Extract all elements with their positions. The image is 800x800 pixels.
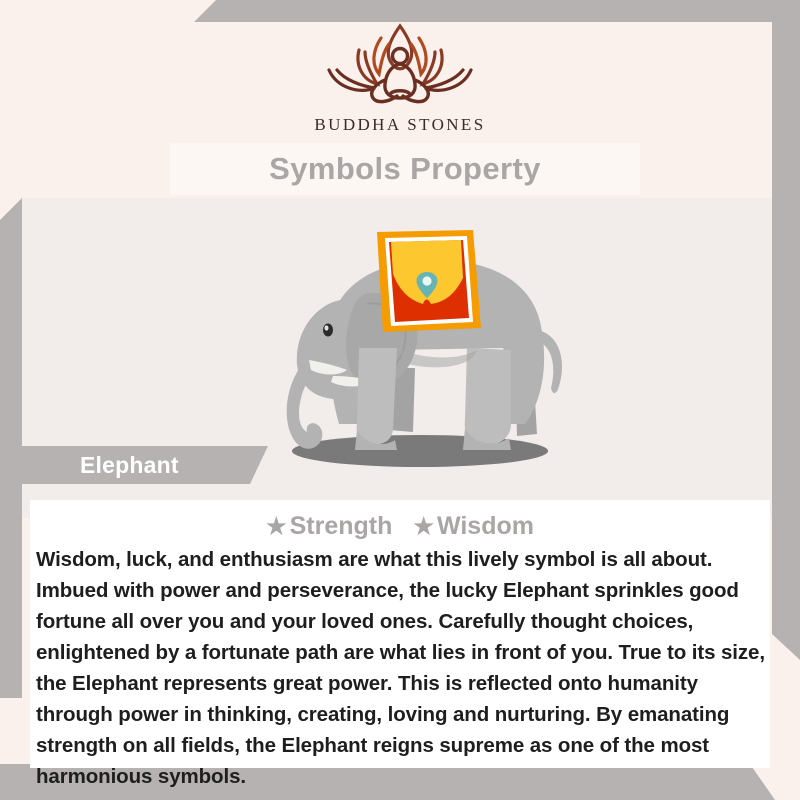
symbol-name-banner: Elephant bbox=[18, 446, 268, 484]
walking-elephant-illustration bbox=[215, 218, 595, 508]
page-title: Symbols Property bbox=[269, 151, 541, 187]
attribute-label: Strength bbox=[290, 512, 393, 540]
brand-name: BUDDHA STONES bbox=[0, 115, 800, 135]
attribute-strength: ★Strength bbox=[266, 512, 392, 541]
brand-logo: BUDDHA STONES bbox=[0, 18, 800, 135]
symbol-property-card: BUDDHA STONES Symbols Property bbox=[0, 0, 800, 800]
attribute-label: Wisdom bbox=[437, 512, 534, 540]
symbol-name: Elephant bbox=[80, 452, 179, 479]
attributes-row: ★Strength ★Wisdom bbox=[30, 512, 770, 541]
lotus-meditation-icon bbox=[315, 18, 485, 113]
attribute-wisdom: ★Wisdom bbox=[413, 512, 534, 541]
title-band: Symbols Property bbox=[170, 143, 640, 195]
elephant-shadow bbox=[292, 435, 548, 467]
elephant-eye bbox=[323, 324, 333, 337]
symbol-description: Wisdom, luck, and enthusiasm are what th… bbox=[36, 544, 771, 792]
star-icon: ★ bbox=[413, 513, 434, 539]
star-icon: ★ bbox=[266, 513, 287, 539]
